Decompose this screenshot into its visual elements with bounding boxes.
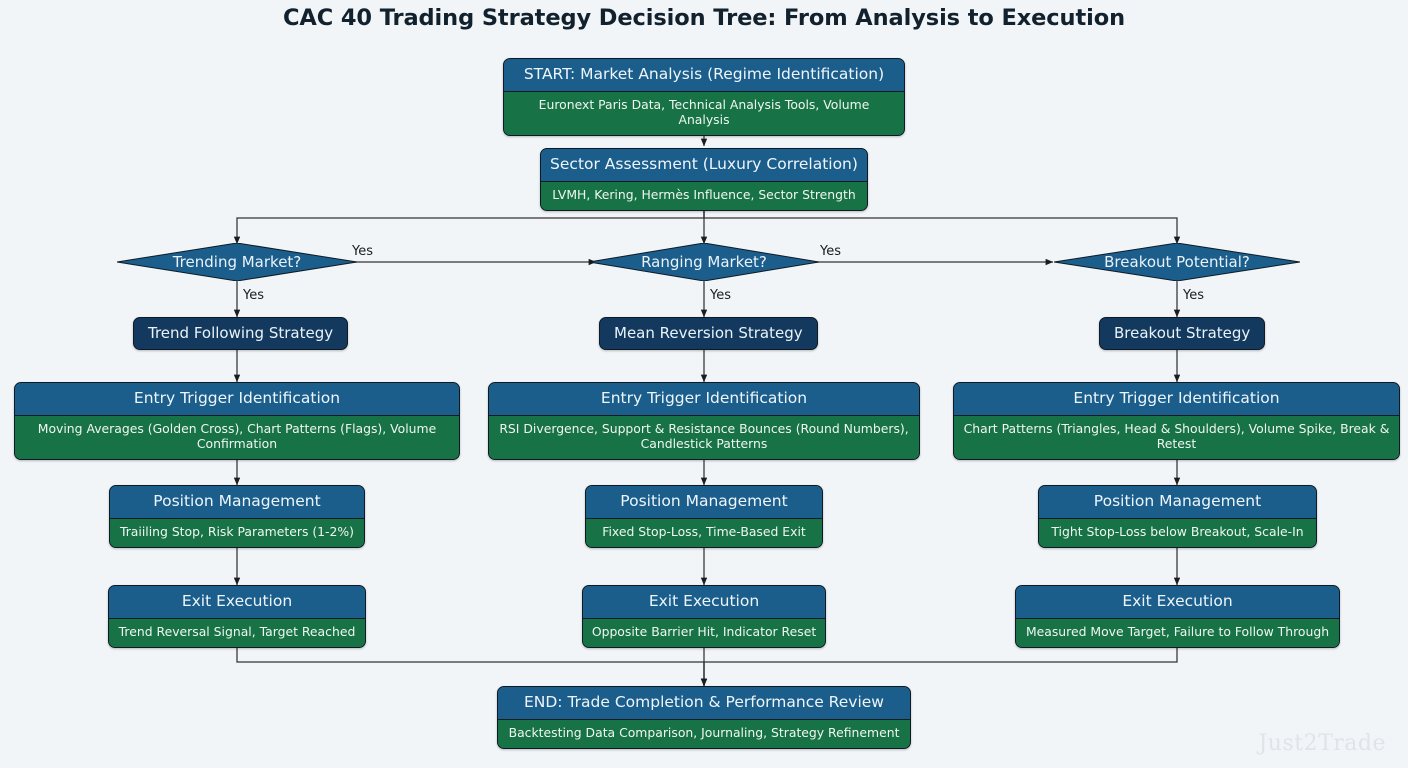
flowchart-canvas: CAC 40 Trading Strategy Decision Tree: F… xyxy=(0,0,1408,768)
node-exit-execution-trend[interactable]: Exit Execution Trend Reversal Signal, Ta… xyxy=(108,585,366,648)
node-exit-execution-breakout-body: Measured Move Target, Failure to Follow … xyxy=(1016,619,1339,647)
watermark: Just2Trade xyxy=(1258,731,1386,756)
decision-trending-market[interactable]: Trending Market? xyxy=(117,243,357,281)
decision-breakout-potential[interactable]: Breakout Potential? xyxy=(1054,243,1300,281)
node-position-management-trend-body: Traiiling Stop, Risk Parameters (1-2%) xyxy=(110,519,364,547)
node-mean-reversion-strategy-label: Mean Reversion Strategy xyxy=(599,317,818,350)
edge-label-ranging-to-breakout: Yes xyxy=(820,244,841,259)
node-exit-execution-breakout-header: Exit Execution xyxy=(1016,586,1339,619)
node-exit-execution-trend-body: Trend Reversal Signal, Target Reached xyxy=(109,619,365,647)
node-position-management-breakout[interactable]: Position Management Tight Stop-Loss belo… xyxy=(1038,485,1317,548)
decision-ranging-market[interactable]: Ranging Market? xyxy=(589,243,819,281)
node-mean-reversion-strategy[interactable]: Mean Reversion Strategy xyxy=(599,317,818,350)
node-trend-following-strategy-label: Trend Following Strategy xyxy=(133,317,348,350)
node-sector-assessment[interactable]: Sector Assessment (Luxury Correlation) L… xyxy=(540,148,868,211)
edge-label-trending-yes: Yes xyxy=(243,288,264,303)
node-entry-trigger-breakout-header: Entry Trigger Identification xyxy=(954,383,1399,416)
node-start-body: Euronext Paris Data, Technical Analysis … xyxy=(504,92,904,134)
node-exit-execution-ranging-body: Opposite Barrier Hit, Indicator Reset xyxy=(583,619,825,647)
node-breakout-strategy-label: Breakout Strategy xyxy=(1099,317,1265,350)
node-entry-trigger-trend-header: Entry Trigger Identification xyxy=(15,383,459,416)
node-position-management-ranging-body: Fixed Stop-Loss, Time-Based Exit xyxy=(586,519,822,547)
edge-label-ranging-yes: Yes xyxy=(710,288,731,303)
node-position-management-trend[interactable]: Position Management Traiiling Stop, Risk… xyxy=(109,485,365,548)
node-sector-header: Sector Assessment (Luxury Correlation) xyxy=(541,149,867,182)
node-position-management-ranging-header: Position Management xyxy=(586,486,822,519)
node-position-management-ranging[interactable]: Position Management Fixed Stop-Loss, Tim… xyxy=(585,485,823,548)
node-exit-execution-ranging[interactable]: Exit Execution Opposite Barrier Hit, Ind… xyxy=(582,585,826,648)
node-position-management-breakout-body: Tight Stop-Loss below Breakout, Scale-In xyxy=(1039,519,1316,547)
node-breakout-strategy[interactable]: Breakout Strategy xyxy=(1099,317,1265,350)
node-entry-trigger-breakout-body: Chart Patterns (Triangles, Head & Should… xyxy=(954,416,1399,458)
edge-label-breakout-yes: Yes xyxy=(1183,288,1204,303)
node-end-body: Backtesting Data Comparison, Journaling,… xyxy=(498,720,910,748)
node-entry-trigger-trend[interactable]: Entry Trigger Identification Moving Aver… xyxy=(14,382,460,460)
node-exit-execution-ranging-header: Exit Execution xyxy=(583,586,825,619)
node-exit-execution-trend-header: Exit Execution xyxy=(109,586,365,619)
node-trend-following-strategy[interactable]: Trend Following Strategy xyxy=(133,317,348,350)
node-entry-trigger-breakout[interactable]: Entry Trigger Identification Chart Patte… xyxy=(953,382,1400,460)
node-exit-execution-breakout[interactable]: Exit Execution Measured Move Target, Fai… xyxy=(1015,585,1340,648)
page-title: CAC 40 Trading Strategy Decision Tree: F… xyxy=(0,5,1408,31)
node-sector-body: LVMH, Kering, Hermès Influence, Sector S… xyxy=(541,182,867,210)
node-start-header: START: Market Analysis (Regime Identific… xyxy=(504,59,904,92)
node-start[interactable]: START: Market Analysis (Regime Identific… xyxy=(503,58,905,136)
node-entry-trigger-trend-body: Moving Averages (Golden Cross), Chart Pa… xyxy=(15,416,459,458)
node-position-management-trend-header: Position Management xyxy=(110,486,364,519)
edge-label-trending-to-ranging: Yes xyxy=(352,244,373,259)
node-position-management-breakout-header: Position Management xyxy=(1039,486,1316,519)
node-entry-trigger-ranging-header: Entry Trigger Identification xyxy=(489,383,919,416)
node-entry-trigger-ranging-body: RSI Divergence, Support & Resistance Bou… xyxy=(489,416,919,458)
node-end-header: END: Trade Completion & Performance Revi… xyxy=(498,687,910,720)
node-entry-trigger-ranging[interactable]: Entry Trigger Identification RSI Diverge… xyxy=(488,382,920,460)
node-end[interactable]: END: Trade Completion & Performance Revi… xyxy=(497,686,911,749)
